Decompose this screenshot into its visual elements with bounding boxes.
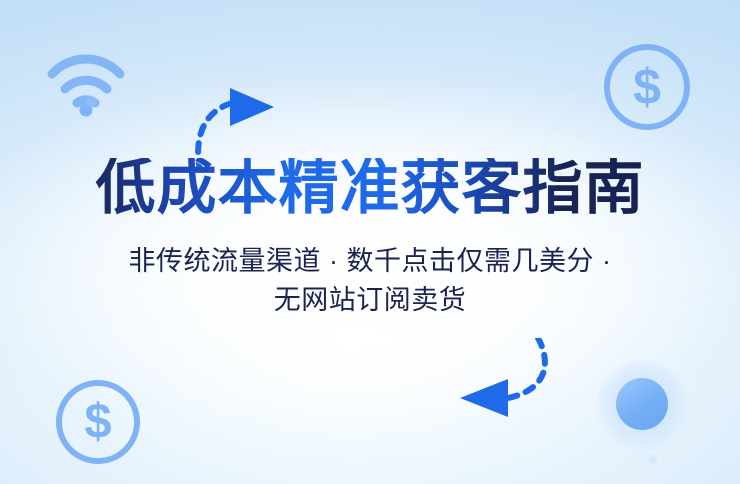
- dashed-curved-arrow-left-icon: [446, 338, 578, 430]
- dot-core: [616, 378, 668, 430]
- svg-text:$: $: [633, 59, 661, 115]
- wifi-icon: [38, 38, 134, 118]
- dot-halo: [596, 360, 688, 452]
- subtitle-line-1: 非传统流量渠道 · 数千点击仅需几美分 ·: [0, 242, 740, 281]
- headline-block: 低成本精准获客指南 非传统流量渠道 · 数千点击仅需几美分 · 无网站订阅卖货: [0, 158, 740, 321]
- poster-canvas: $ $ 低成本精准获客指南 非传统流量渠道 · 数千点击仅需几美分 ·: [0, 0, 740, 484]
- speck-dot-b: [648, 455, 657, 464]
- page-title: 低成本精准获客指南: [0, 158, 740, 218]
- dollar-circle-icon-bottom-left: $: [50, 374, 146, 470]
- speck-dot-a: [86, 96, 97, 107]
- subtitle-line-2: 无网站订阅卖货: [0, 281, 740, 320]
- blue-dot-cluster: [596, 360, 688, 452]
- svg-text:$: $: [84, 395, 111, 449]
- subtitle: 非传统流量渠道 · 数千点击仅需几美分 · 无网站订阅卖货: [0, 242, 740, 321]
- dollar-circle-icon-top-right: $: [598, 38, 696, 136]
